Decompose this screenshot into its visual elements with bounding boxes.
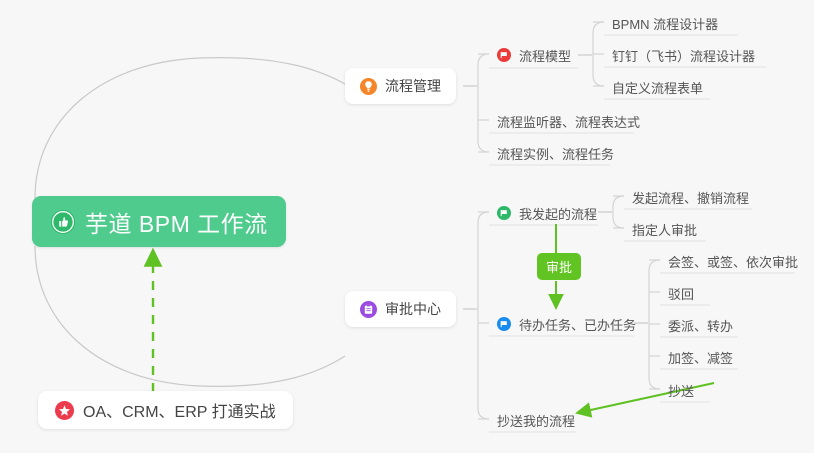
leaf-dingtalk-feishu-designer[interactable]: 钉钉（飞书）流程设计器 (608, 40, 759, 70)
leaf-start-cancel-process[interactable]: 发起流程、撤销流程 (628, 182, 753, 212)
leaf-label: 委派、转办 (668, 316, 733, 335)
bracket-my-started-children (613, 196, 624, 228)
leaf-countersign[interactable]: 会签、或签、依次审批 (664, 246, 802, 276)
leaf-label: 抄送我的流程 (497, 411, 575, 430)
connector-root-to-process-management (35, 58, 345, 198)
annotation-badge-label: 审批 (546, 257, 572, 276)
flag-icon (497, 206, 511, 220)
leaf-label: 我发起的流程 (519, 204, 597, 223)
bracket-process-model-children (593, 22, 604, 86)
leaf-label: 流程实例、流程任务 (497, 144, 614, 163)
leaf-delegate-transfer[interactable]: 委派、转办 (664, 310, 737, 340)
branch-card-process-management[interactable]: 流程管理 (345, 68, 456, 104)
leaf-my-started-process[interactable]: 我发起的流程 (493, 198, 601, 228)
leaf-label: 自定义流程表单 (612, 78, 703, 97)
clipboard-icon (360, 301, 377, 318)
leaf-label: 钉钉（飞书）流程设计器 (612, 46, 755, 65)
leaf-add-remove-sign[interactable]: 加签、减签 (664, 342, 737, 372)
leaf-todo-done-task[interactable]: 待办任务、已办任务 (493, 309, 640, 339)
leaf-cc-to-me-process[interactable]: 抄送我的流程 (493, 405, 579, 435)
bracket-approval-center-children (478, 212, 489, 419)
root-node-label: 芋道 BPM 工作流 (85, 205, 268, 239)
bracket-todo-done-children (649, 260, 660, 389)
bracket-process-management-children (478, 54, 489, 152)
thumbs-up-icon (50, 209, 76, 235)
root-node[interactable]: 芋道 BPM 工作流 (32, 196, 286, 247)
leaf-label: 会签、或签、依次审批 (668, 252, 798, 271)
bottom-card-integration[interactable]: OA、CRM、ERP 打通实战 (38, 391, 293, 429)
branch-card-label: 流程管理 (385, 76, 441, 96)
leaf-label: 流程模型 (519, 46, 571, 65)
leaf-label: 流程监听器、流程表达式 (497, 112, 640, 131)
connector-root-to-approval-center (35, 246, 345, 386)
leaf-label: 指定人审批 (632, 220, 697, 239)
leaf-designated-approver[interactable]: 指定人审批 (628, 214, 701, 244)
mindmap-canvas: 芋道 BPM 工作流 流程管理 审批中心 (0, 0, 814, 453)
leaf-cc[interactable]: 抄送 (664, 375, 698, 405)
leaf-label: 抄送 (668, 381, 694, 400)
leaf-bpmn-designer[interactable]: BPMN 流程设计器 (608, 8, 722, 38)
branch-card-label: 审批中心 (385, 299, 441, 319)
leaf-process-model[interactable]: 流程模型 (493, 40, 575, 70)
branch-card-approval-center[interactable]: 审批中心 (345, 291, 456, 327)
leaf-process-instance-task[interactable]: 流程实例、流程任务 (493, 138, 618, 168)
star-icon (55, 401, 74, 420)
leaf-process-listener-expression[interactable]: 流程监听器、流程表达式 (493, 106, 644, 136)
leaf-reject[interactable]: 驳回 (664, 278, 698, 308)
lightbulb-icon (360, 78, 377, 95)
leaf-label: 驳回 (668, 284, 694, 303)
leaf-custom-process-form[interactable]: 自定义流程表单 (608, 72, 707, 102)
flag-icon (497, 317, 511, 331)
leaf-label: 待办任务、已办任务 (519, 315, 636, 334)
bottom-card-label: OA、CRM、ERP 打通实战 (83, 398, 276, 422)
leaf-label: BPMN 流程设计器 (612, 14, 718, 33)
leaf-label: 发起流程、撤销流程 (632, 188, 749, 207)
leaf-label: 加签、减签 (668, 348, 733, 367)
flag-icon (497, 48, 511, 62)
annotation-badge-approval: 审批 (537, 253, 581, 280)
